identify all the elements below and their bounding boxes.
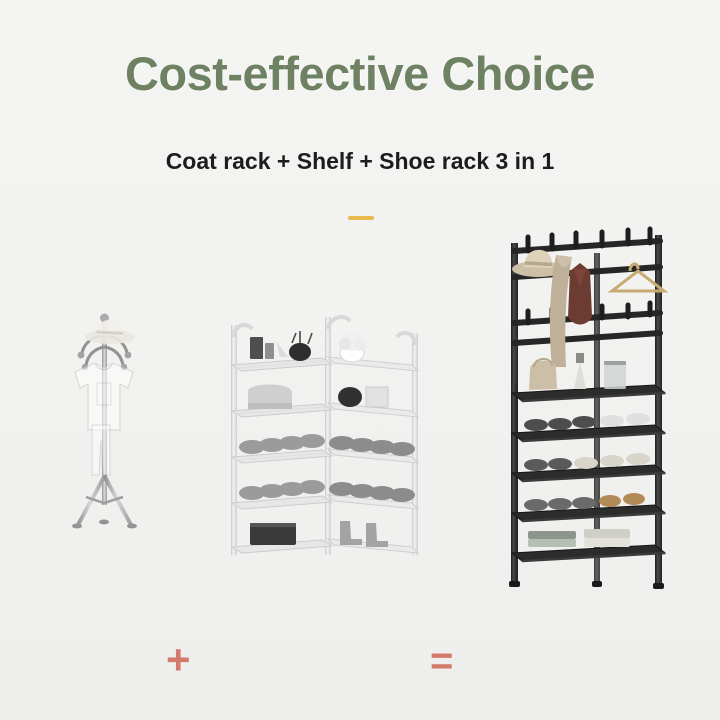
page-subtitle: Coat rack + Shelf + Shoe rack 3 in 1	[0, 148, 720, 175]
product-banner: Cost-effective Choice Coat rack + Shelf …	[0, 0, 720, 720]
equals-operator: =	[430, 641, 453, 681]
product-comparison-scene: + =	[0, 225, 720, 625]
product-shelf-shoe-rack	[231, 317, 418, 555]
decor-hat	[85, 320, 135, 344]
product-illustration-svg	[0, 225, 720, 625]
title-divider	[348, 216, 374, 220]
decor-shirt	[75, 363, 133, 430]
shelf-section-black	[511, 383, 665, 583]
decor-coat	[568, 263, 592, 325]
product-combined-unit	[509, 229, 665, 589]
product-coat-rack	[72, 314, 137, 529]
page-title: Cost-effective Choice	[0, 46, 720, 101]
plus-operator: +	[166, 639, 191, 681]
